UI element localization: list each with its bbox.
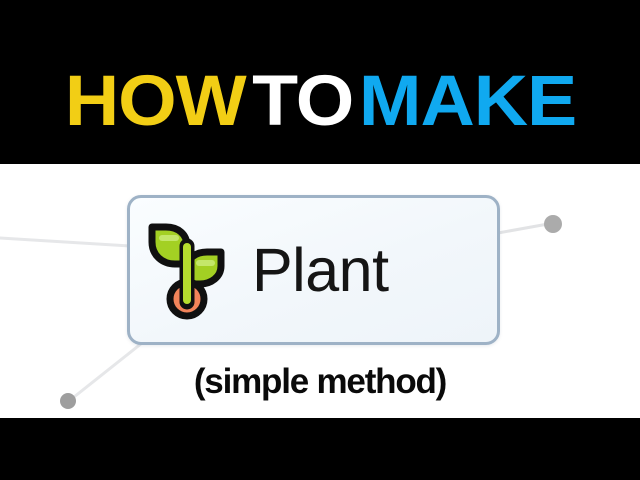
seedling-icon (130, 195, 248, 345)
bottom-banner (0, 418, 640, 480)
headline-word-make: MAKE (359, 66, 576, 138)
flow-node-right (544, 215, 562, 233)
headline: HOW TO MAKE (0, 66, 640, 138)
subtitle: (simple method) (0, 361, 640, 403)
thumbnail-canvas: Plant HOW TO MAKE (simple method) (0, 0, 640, 480)
flow-edge-left (0, 238, 130, 246)
headline-word-how: HOW (64, 66, 245, 138)
plant-card[interactable]: Plant (127, 195, 500, 345)
headline-word-to: TO (252, 66, 353, 138)
flow-edge-right (498, 224, 548, 233)
card-label: Plant (252, 240, 389, 301)
